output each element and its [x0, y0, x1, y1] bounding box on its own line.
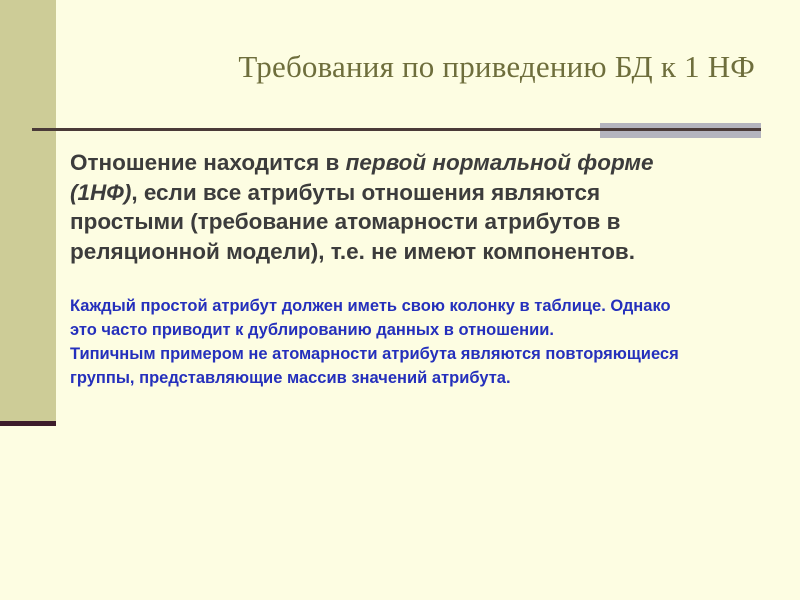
slide-title: Требования по приведению БД к 1 НФ	[40, 48, 755, 86]
lead-segment-2: , если все атрибуты отношения являются п…	[70, 180, 635, 264]
lead-segment-1: Отношение находится в	[70, 150, 346, 175]
decorative-side-bar-cap	[0, 421, 56, 426]
note-paragraph-1: Каждый простой атрибут должен иметь свою…	[70, 294, 695, 342]
lead-paragraph: Отношение находится в первой нормальной …	[70, 148, 698, 266]
paragraph-spacer	[70, 266, 710, 294]
slide-body: Отношение находится в первой нормальной …	[70, 148, 710, 390]
note-paragraph-2: Типичным примером не атомарности атрибут…	[70, 342, 695, 390]
header-divider-rule	[32, 128, 761, 131]
slide-canvas: Требования по приведению БД к 1 НФ Отнош…	[0, 0, 800, 600]
